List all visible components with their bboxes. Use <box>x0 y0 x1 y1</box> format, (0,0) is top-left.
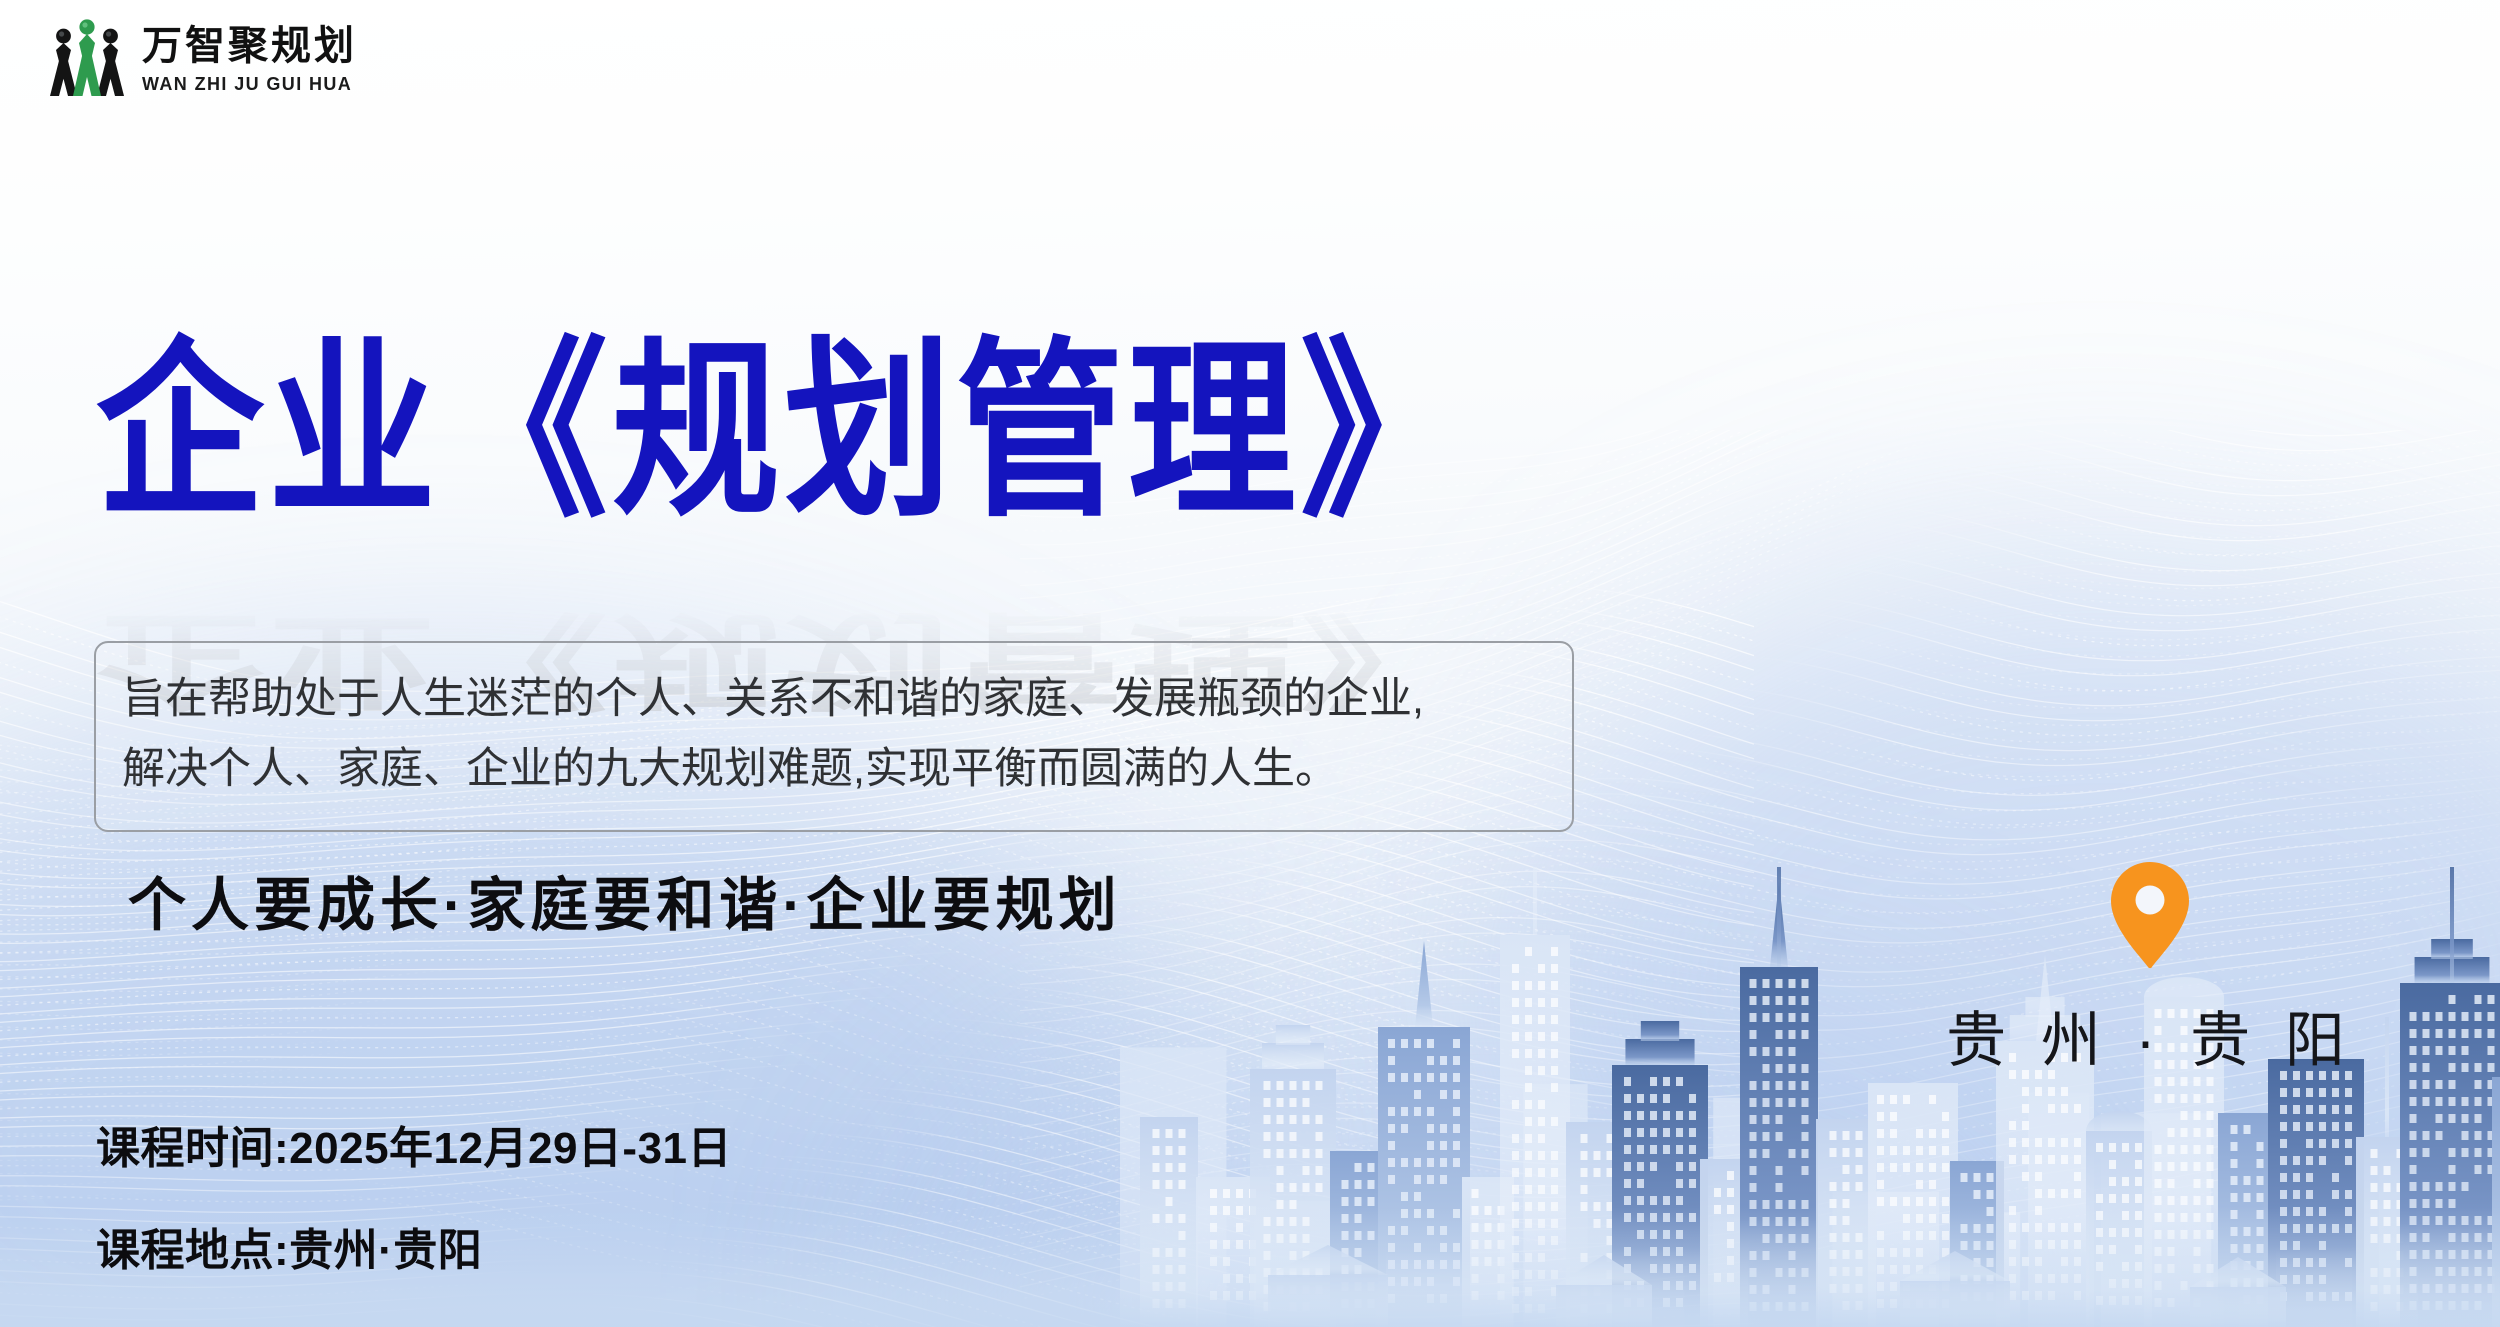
description-line-1: 旨在帮助处于人生迷茫的个人、关系不和谐的家庭、发展瓶颈的企业, <box>122 665 1546 735</box>
tagline: 个人要成长·家庭要和谐·企业要规划 <box>128 858 1122 942</box>
brand-logo[interactable]: 万智聚规划 WAN ZHI JU GUI HUA <box>48 16 357 102</box>
brand-name-cn: 万智聚规划 <box>142 26 357 66</box>
description-line-2: 解决个人、家庭、企业的九大规划难题,实现平衡而圆满的人生。 <box>122 735 1546 805</box>
course-meta: 课程时间:2025年12月29日-31日 课程地点:贵州·贵阳 <box>96 1112 732 1278</box>
location-city: 贵 州 · 贵 阳 <box>1946 992 2354 1079</box>
course-time: 课程时间:2025年12月29日-31日 <box>96 1112 732 1176</box>
course-place: 课程地点:贵州·贵阳 <box>96 1214 732 1278</box>
location-badge: 贵 州 · 贵 阳 <box>1940 860 2360 1079</box>
page-title: 企业《规划管理》 <box>96 330 1472 533</box>
map-pin-icon <box>2107 860 2193 970</box>
description-box: 旨在帮助处于人生迷茫的个人、关系不和谐的家庭、发展瓶颈的企业, 解决个人、家庭、… <box>94 641 1574 832</box>
three-people-logo-icon <box>48 16 126 102</box>
brand-name-en: WAN ZHI JU GUI HUA <box>142 75 357 93</box>
poster-canvas: 万智聚规划 WAN ZHI JU GUI HUA 企业《规划管理》 企业《规划管… <box>0 0 2500 1327</box>
brand-logo-text: 万智聚规划 WAN ZHI JU GUI HUA <box>142 26 357 93</box>
